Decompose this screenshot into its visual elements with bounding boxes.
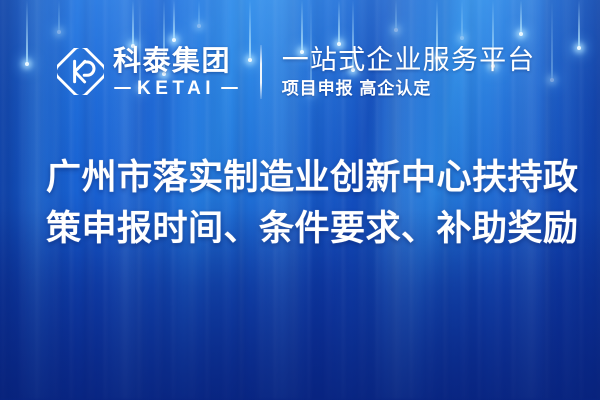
ketai-diamond-kd-monogram-icon (57, 48, 104, 95)
brand-name-en: KETAI (137, 79, 215, 98)
light-streak (173, 0, 175, 40)
brand-logo: 科泰集团 KETAI (57, 46, 238, 97)
page-title: 广州市落实制造业创新中心扶持政 策申报时间、条件要求、补助奖励 (0, 152, 600, 254)
tagline-main: 一站式企业服务平台 (282, 45, 536, 75)
tagline-sub: 项目申报 高企认定 (282, 79, 536, 99)
header-divider (260, 45, 262, 99)
brand-name-cn: 科泰集团 (113, 46, 238, 75)
light-streak (461, 0, 463, 38)
promo-banner: 科泰集团 KETAI 一站式企业服务平台 项目申报 高企认定 广州市落实制造业创… (0, 0, 600, 400)
dash-left-icon (114, 87, 131, 90)
banner-header: 科泰集团 KETAI 一站式企业服务平台 项目申报 高企认定 (0, 38, 600, 106)
light-streak (58, 0, 60, 32)
light-streak (395, 0, 397, 30)
page-title-line-2: 策申报时间、条件要求、补助奖励 (46, 203, 554, 254)
light-streak (520, 0, 522, 34)
brand-tagline: 一站式企业服务平台 项目申报 高企认定 (282, 45, 536, 100)
light-streak (198, 0, 200, 26)
brand-wordmark: 科泰集团 KETAI (113, 46, 238, 97)
dash-right-icon (221, 87, 238, 90)
brand-name-en-row: KETAI (113, 79, 238, 98)
page-title-line-1: 广州市落实制造业创新中心扶持政 (46, 152, 554, 203)
